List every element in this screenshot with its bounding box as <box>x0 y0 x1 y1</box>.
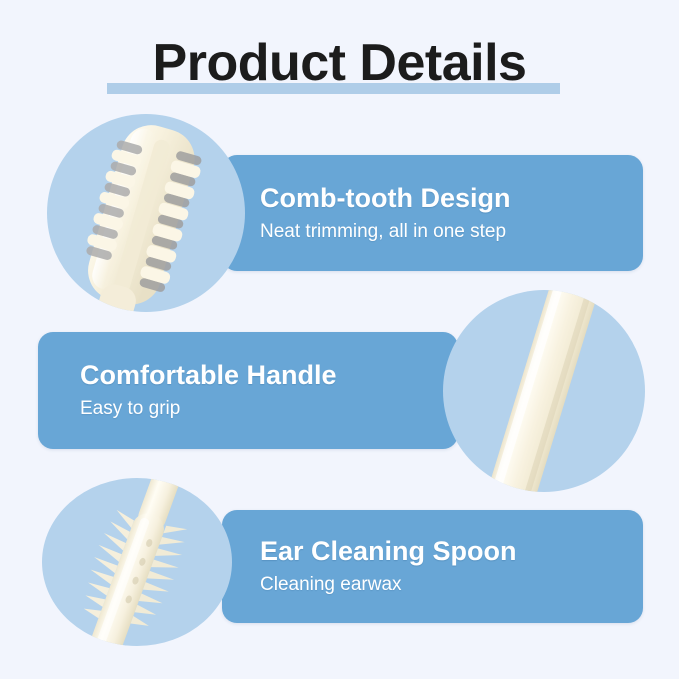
product-details-infographic: Product Details Comb-tooth Design Neat t… <box>0 0 679 679</box>
feature-title: Comfortable Handle <box>80 358 458 392</box>
header: Product Details <box>0 32 679 102</box>
feature-title: Ear Cleaning Spoon <box>260 534 643 568</box>
comb-tooth-head-photo <box>47 114 245 312</box>
feature-subtitle: Easy to grip <box>80 395 458 423</box>
comb-tooth-illustration <box>47 114 245 312</box>
ear-spoon-illustration <box>42 478 232 646</box>
feature-card-comb-tooth: Comb-tooth Design Neat trimming, all in … <box>222 155 643 271</box>
ear-cleaning-spoon-photo <box>42 478 232 646</box>
feature-subtitle: Neat trimming, all in one step <box>260 218 643 246</box>
feature-title: Comb-tooth Design <box>260 181 643 215</box>
page-title: Product Details <box>0 32 679 94</box>
handle-illustration <box>443 290 645 492</box>
feature-card-ear-spoon: Ear Cleaning Spoon Cleaning earwax <box>222 510 643 623</box>
feature-subtitle: Cleaning earwax <box>260 571 643 599</box>
handle-shaft-photo <box>443 290 645 492</box>
feature-card-handle: Comfortable Handle Easy to grip <box>38 332 458 449</box>
